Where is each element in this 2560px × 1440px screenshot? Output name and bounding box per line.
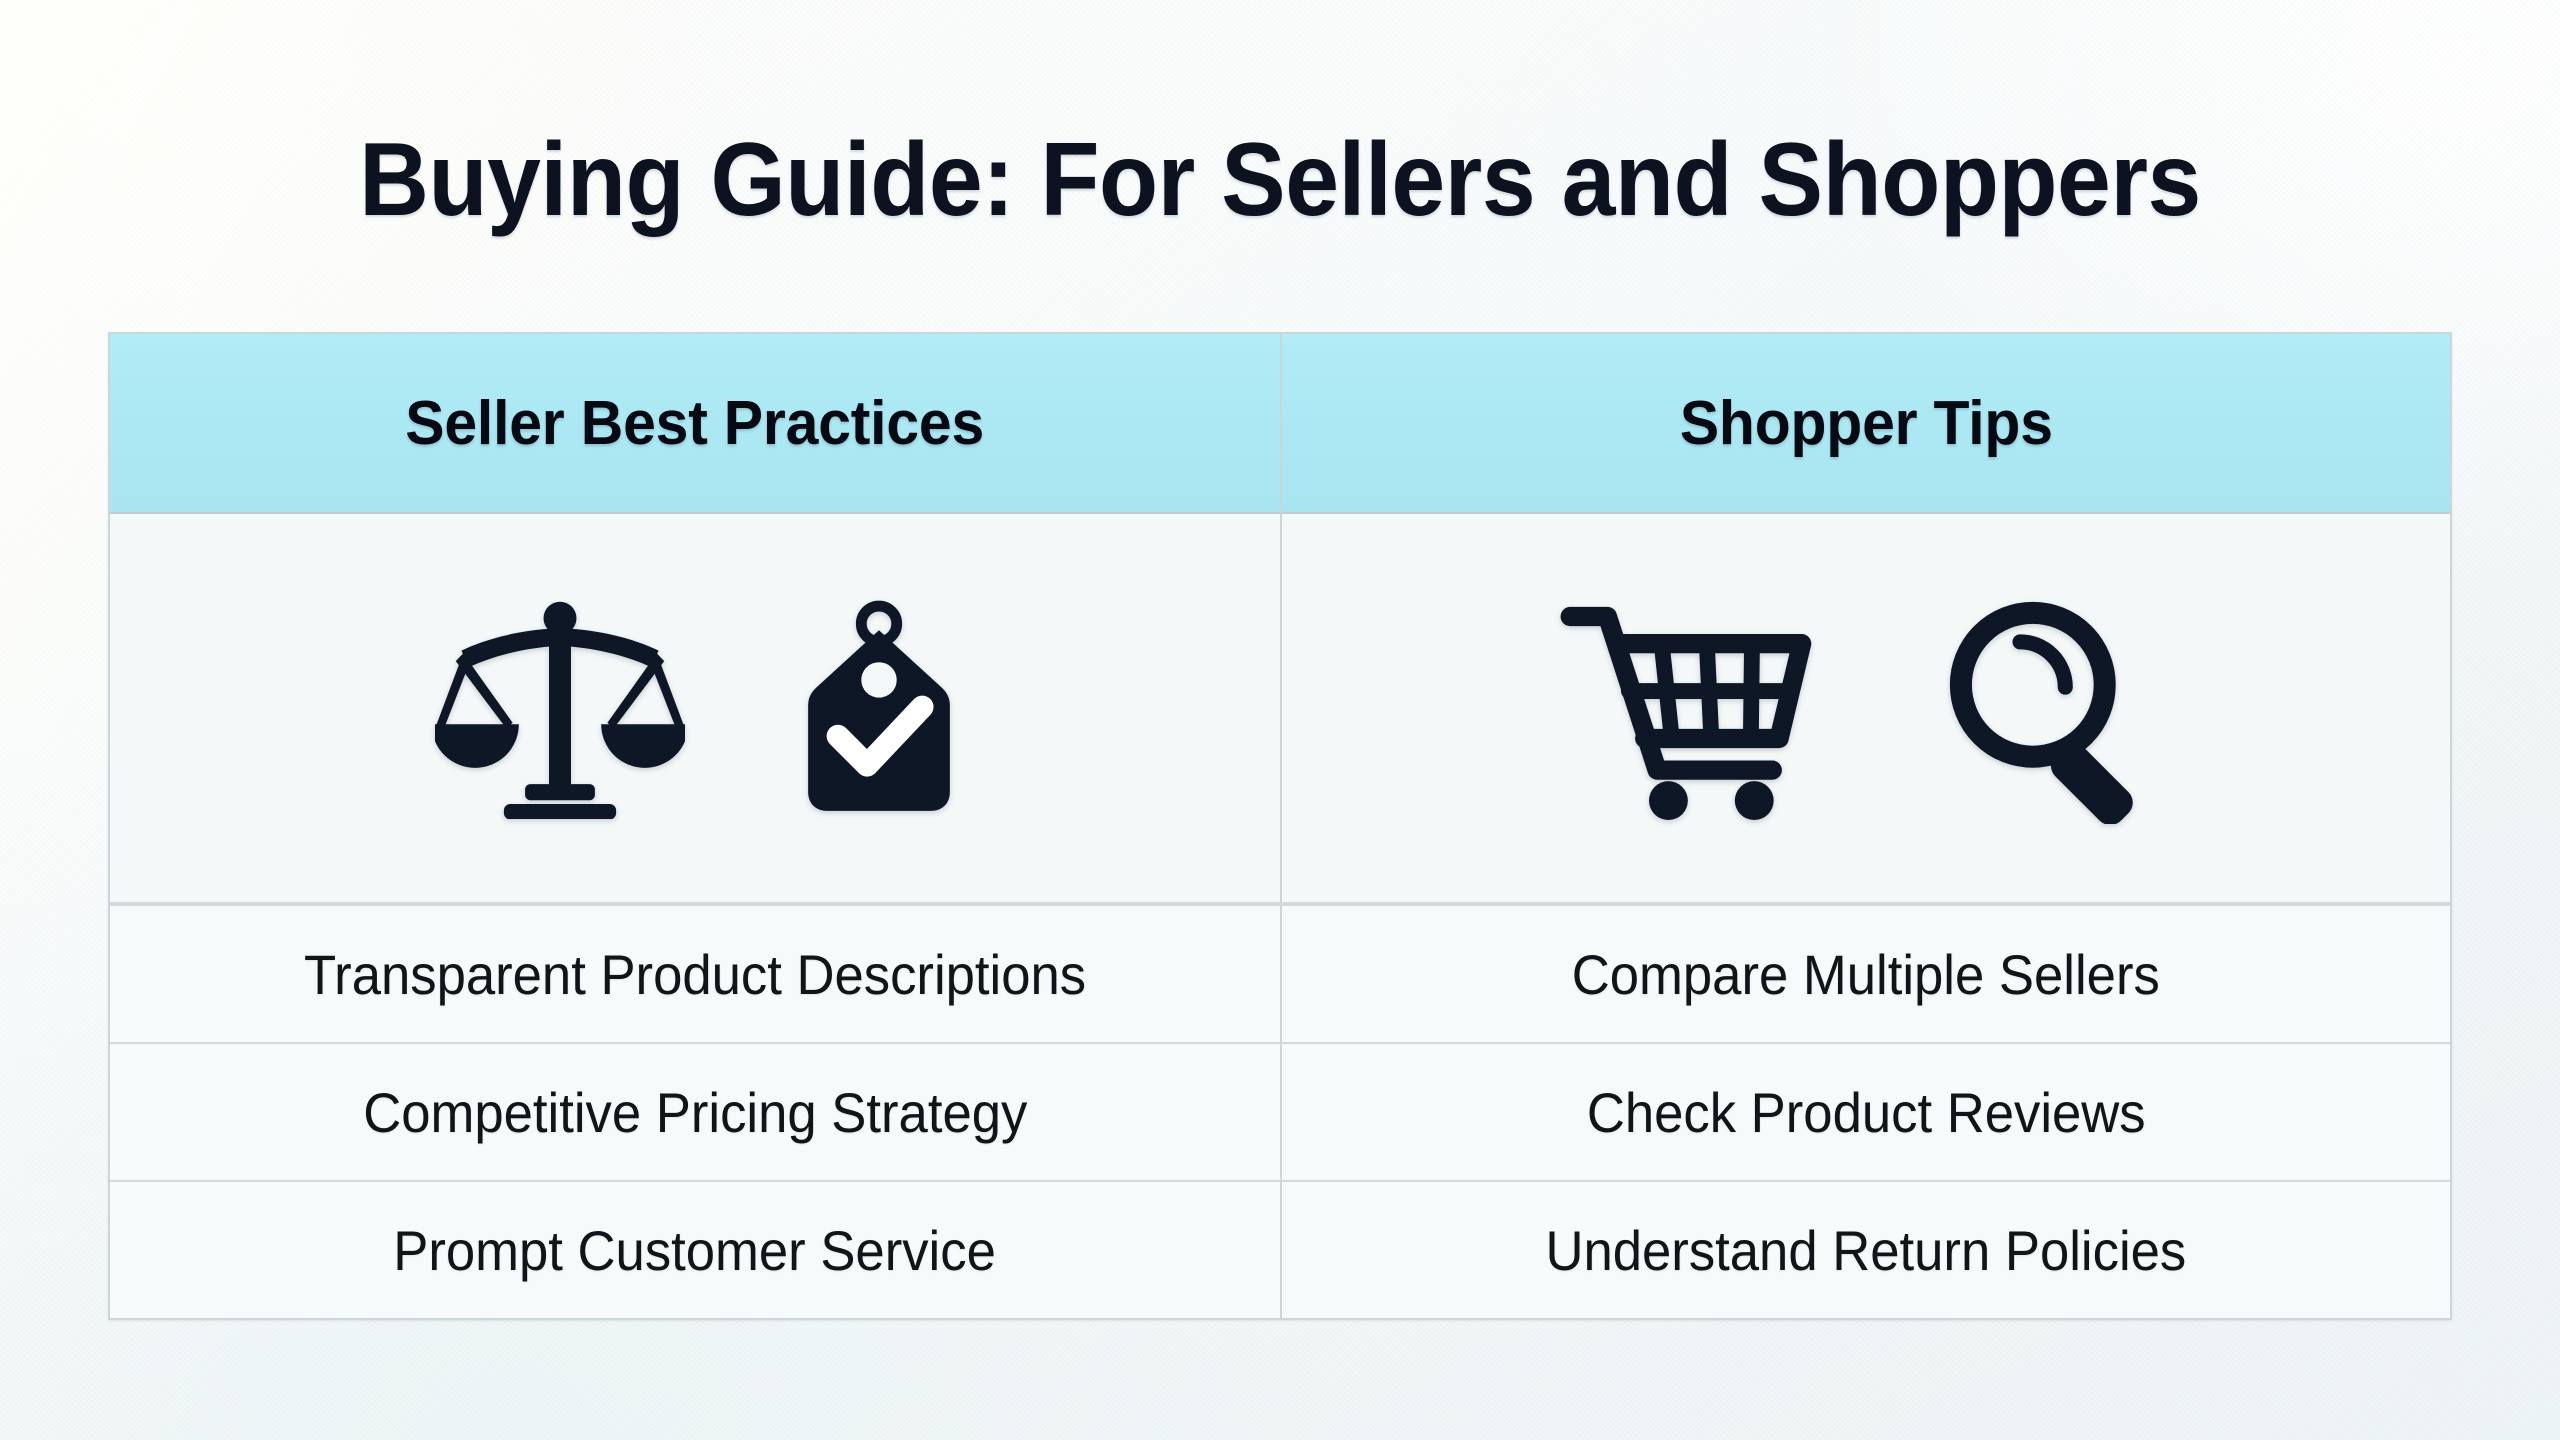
cell-label: Compare Multiple Sellers: [1572, 942, 2160, 1007]
cell-shopper-item-1: Compare Multiple Sellers: [1280, 904, 2450, 1042]
comparison-table: Seller Best Practices Shopper Tips: [108, 332, 2452, 1320]
infographic-canvas: Buying Guide: For Sellers and Shoppers S…: [0, 0, 2560, 1440]
table-row: Prompt Customer Service Understand Retur…: [110, 1180, 2450, 1318]
cell-shopper-item-3: Understand Return Policies: [1280, 1180, 2450, 1318]
cell-seller-item-2: Competitive Pricing Strategy: [110, 1042, 1280, 1180]
magnifying-glass-icon: [1940, 592, 2172, 824]
cell-shopper-item-2: Check Product Reviews: [1280, 1042, 2450, 1180]
cell-label: Understand Return Policies: [1546, 1218, 2187, 1283]
header-cell-seller: Seller Best Practices: [110, 334, 1280, 514]
header-cell-shopper: Shopper Tips: [1280, 334, 2450, 514]
column-header-label: Shopper Tips: [1680, 388, 2053, 459]
icon-cell-shopper: [1280, 514, 2450, 904]
balance-scale-icon: [435, 597, 685, 819]
icon-cell-seller: [110, 514, 1280, 904]
table-icon-row: [110, 514, 2450, 904]
cell-seller-item-3: Prompt Customer Service: [110, 1180, 1280, 1318]
table-header-row: Seller Best Practices Shopper Tips: [110, 334, 2450, 514]
cell-seller-item-1: Transparent Product Descriptions: [110, 904, 1280, 1042]
table-row: Transparent Product Descriptions Compare…: [110, 904, 2450, 1042]
cell-label: Prompt Customer Service: [394, 1218, 997, 1283]
page-title: Buying Guide: For Sellers and Shoppers: [190, 128, 2370, 232]
column-header-label: Seller Best Practices: [406, 388, 985, 459]
price-tag-check-icon: [803, 600, 955, 816]
cell-label: Competitive Pricing Strategy: [363, 1080, 1027, 1145]
shopping-cart-icon: [1560, 595, 1822, 821]
cell-label: Check Product Reviews: [1587, 1080, 2146, 1145]
cell-label: Transparent Product Descriptions: [304, 942, 1086, 1007]
table-row: Competitive Pricing Strategy Check Produ…: [110, 1042, 2450, 1180]
